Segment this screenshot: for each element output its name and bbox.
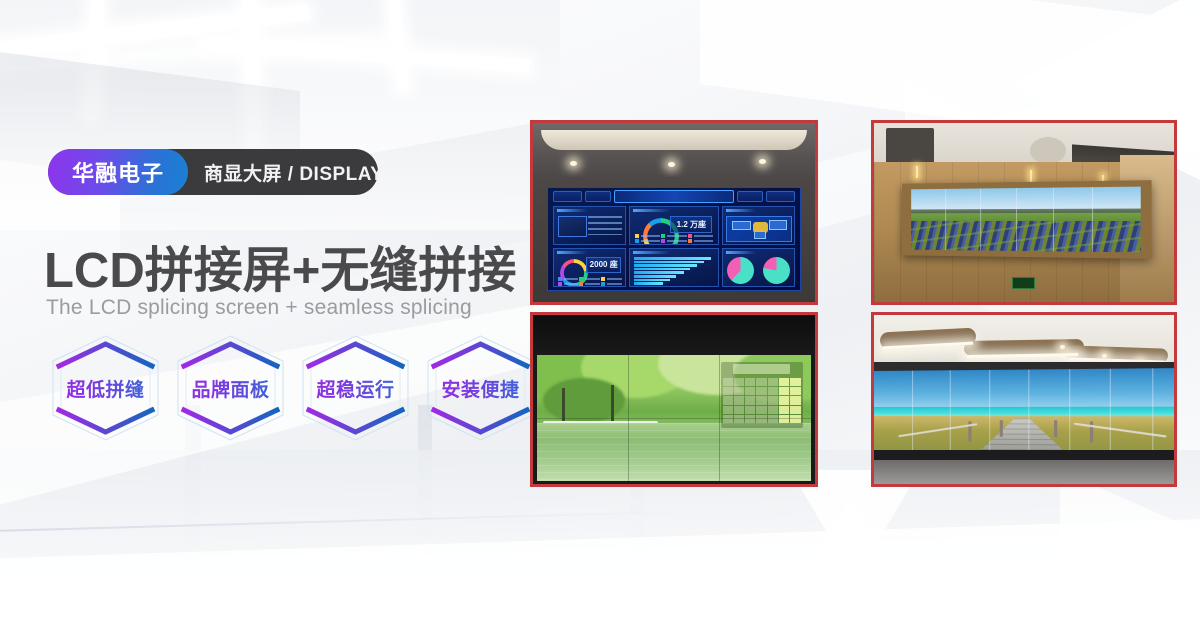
feature-hexagon: 安装便捷 bbox=[422, 332, 539, 444]
pie-chart bbox=[763, 257, 790, 284]
dashboard-title-bar bbox=[614, 190, 734, 203]
brand-badge: 华融电子 商显大屏 / DISPLAY bbox=[48, 149, 383, 195]
panel-thumbnail bbox=[558, 216, 587, 237]
feature-hexagon: 品牌面板 bbox=[172, 332, 289, 444]
brand-name-pill: 华融电子 bbox=[48, 149, 188, 195]
brand-category: 商显大屏 / DISPLAY bbox=[188, 149, 383, 195]
screen-seam bbox=[989, 370, 990, 453]
calendar-grid bbox=[723, 378, 801, 423]
feature-hexagon: 超稳运行 bbox=[297, 332, 414, 444]
legend-item bbox=[558, 282, 579, 286]
chart-legend bbox=[635, 234, 714, 242]
screen-seam bbox=[1016, 188, 1017, 251]
legend-item bbox=[635, 234, 661, 238]
feature-label: 安装便捷 bbox=[422, 332, 539, 444]
feature-label: 超低拼缝 bbox=[47, 332, 164, 444]
chart-legend bbox=[558, 277, 622, 285]
legend-item bbox=[579, 277, 600, 281]
pie-chart bbox=[727, 257, 754, 284]
bar-chart bbox=[634, 257, 714, 285]
willow-lake-screen bbox=[537, 355, 811, 482]
brand-name: 华融电子 bbox=[72, 156, 164, 188]
legend-item bbox=[661, 239, 687, 243]
screen-seam bbox=[1092, 187, 1093, 252]
screen-seam bbox=[945, 189, 946, 250]
screen-seam bbox=[537, 418, 811, 419]
dashboard-tab bbox=[766, 191, 795, 202]
dashboard-tab bbox=[737, 191, 763, 202]
bar bbox=[634, 282, 663, 284]
page-subtitle: The LCD splicing screen + seamless splic… bbox=[46, 296, 472, 320]
screen-top-band bbox=[533, 315, 815, 354]
lake-water bbox=[537, 423, 811, 481]
sky bbox=[874, 368, 1177, 410]
ceiling-speaker bbox=[1030, 137, 1066, 164]
feature-label: 品牌面板 bbox=[172, 332, 289, 444]
photo-solar-farm-videowall bbox=[871, 120, 1177, 305]
legend-item bbox=[601, 277, 622, 281]
dashboard-header bbox=[553, 190, 795, 202]
screen-seam bbox=[1110, 368, 1111, 454]
feature-list: 超低拼缝 品牌面板 bbox=[47, 332, 539, 444]
flow-diagram bbox=[726, 216, 792, 243]
photo-dashboard-videowall: 1.2 万座 bbox=[530, 120, 818, 305]
bar bbox=[634, 271, 684, 273]
dashboard-kpi-value: 1.2 万座 bbox=[670, 216, 712, 233]
dashboard-panel-piecharts bbox=[722, 248, 795, 287]
dashboard-tab bbox=[585, 191, 611, 202]
screen-seam bbox=[1152, 368, 1153, 454]
downlight bbox=[1102, 354, 1107, 358]
dashboard-panel-donut-count: 2000 座 bbox=[553, 248, 626, 287]
screen-seam bbox=[950, 370, 951, 453]
wall-light bbox=[916, 166, 918, 179]
screen-seam bbox=[1028, 369, 1029, 453]
screen-seam bbox=[912, 370, 913, 452]
bar bbox=[634, 264, 697, 266]
ceiling-spotlight bbox=[759, 159, 766, 164]
feature-label: 超稳运行 bbox=[297, 332, 414, 444]
wall-light bbox=[1030, 170, 1032, 183]
fence-post bbox=[1054, 420, 1057, 437]
dashboard-tab bbox=[553, 191, 582, 202]
pie-chart-group bbox=[723, 259, 794, 282]
dashboard-panel-flowmap bbox=[722, 206, 795, 245]
screen-seam bbox=[1069, 369, 1070, 454]
panel-text-lines bbox=[588, 216, 622, 235]
dashboard-grid: 1.2 万座 bbox=[553, 206, 795, 287]
promo-banner: 华融电子 商显大屏 / DISPLAY LCD拼接屏+无缝拼接 The LCD … bbox=[0, 0, 1200, 640]
dashboard-panel-donut-stats: 1.2 万座 bbox=[629, 206, 718, 245]
bar bbox=[634, 268, 690, 270]
lobby-floor bbox=[874, 460, 1174, 484]
bar bbox=[634, 261, 705, 263]
calendar-header bbox=[733, 364, 789, 373]
legend-item bbox=[688, 234, 714, 238]
page-title: LCD拼接屏+无缝拼接 bbox=[44, 231, 516, 302]
photo-willow-lake-videowall bbox=[530, 312, 818, 487]
fence-post bbox=[1000, 420, 1003, 437]
solar-farm-screen bbox=[911, 187, 1140, 253]
legend-item bbox=[579, 282, 600, 286]
dashboard-panel-intro bbox=[553, 206, 626, 245]
photo-beach-boardwalk-videowall bbox=[871, 312, 1177, 487]
bar bbox=[634, 275, 677, 277]
dashboard-panel-barchart bbox=[629, 248, 718, 287]
legend-item bbox=[601, 282, 622, 286]
screen-base bbox=[874, 450, 1174, 460]
dashboard-kpi-value: 2000 座 bbox=[586, 257, 621, 272]
ceiling-spotlight bbox=[570, 161, 577, 166]
screen-frame bbox=[902, 180, 1151, 259]
screen-seam bbox=[1053, 188, 1054, 252]
feature-hexagon: 超低拼缝 bbox=[47, 332, 164, 444]
dashboard-screen: 1.2 万座 bbox=[547, 187, 801, 291]
screen-seam bbox=[980, 189, 981, 251]
exit-sign bbox=[1012, 277, 1035, 290]
bar bbox=[634, 257, 711, 259]
beach-boardwalk-screen bbox=[874, 368, 1177, 455]
legend-item bbox=[635, 239, 661, 243]
ceiling-cove bbox=[541, 130, 806, 150]
legend-item bbox=[558, 277, 579, 281]
legend-item bbox=[661, 234, 687, 238]
bar bbox=[634, 279, 670, 281]
legend-item bbox=[688, 239, 714, 243]
